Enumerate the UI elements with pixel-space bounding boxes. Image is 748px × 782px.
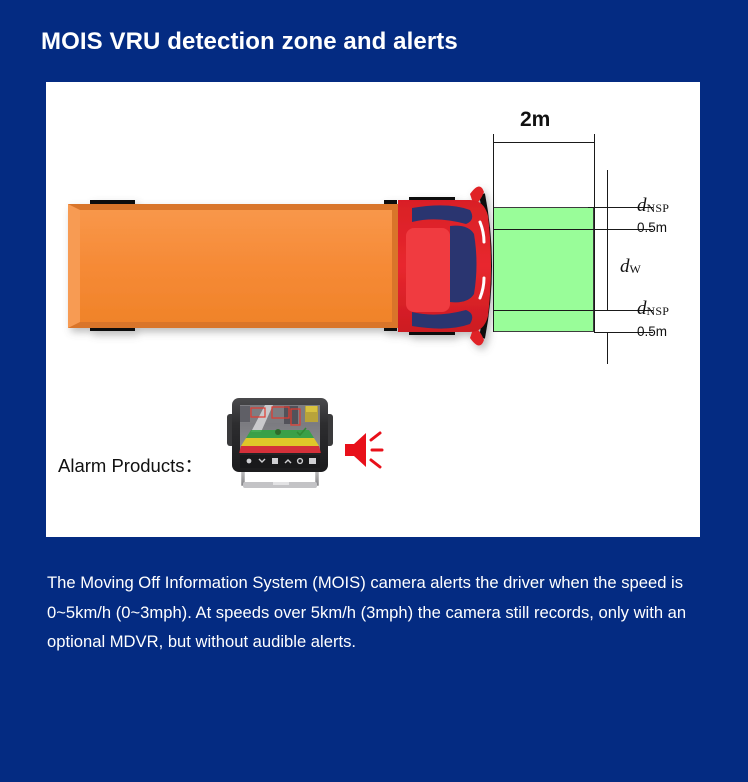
page-title: MOIS VRU detection zone and alerts <box>41 28 458 56</box>
overlay-zone-yellow <box>241 438 319 446</box>
dnsp-bottom-sub: NSP <box>647 304 670 318</box>
monitor-button-menu-icon <box>272 458 278 464</box>
dim-label-dw: dW <box>620 256 641 278</box>
diagram-panel: 2m dNSP 0.5m dW dNSP 0.5m Alarm Products… <box>46 82 700 537</box>
monitor-stand-highlight <box>273 482 289 485</box>
detection-zone-green <box>493 207 594 332</box>
dim-spine-bottom <box>607 332 608 364</box>
dim-spine-middle <box>607 229 608 310</box>
overlay-zone-red <box>239 446 321 453</box>
vehicle-monitor <box>221 392 339 492</box>
corridor-top-edge <box>493 142 595 143</box>
speaker-wave-top <box>371 433 380 440</box>
description-paragraph: The Moving Off Information System (MOIS)… <box>47 568 699 657</box>
dnsp-top-d: d <box>637 195 647 216</box>
dw-d: d <box>620 256 630 277</box>
trailer-body <box>80 210 392 322</box>
dim-label-dnsp-top: dNSP <box>637 195 669 217</box>
dnsp-bottom-d: d <box>637 298 647 319</box>
dim-2m-tick-right <box>594 134 595 150</box>
alarm-products-label: Alarm Products： <box>58 452 203 478</box>
dim-label-offset-top: 0.5m <box>637 220 667 235</box>
trailer-rear-bevel <box>68 204 80 328</box>
screen-badge <box>306 406 317 412</box>
overlay-marker-dot <box>275 429 281 435</box>
monitor-button-display-icon <box>309 458 316 464</box>
monitor-button-bar <box>240 455 320 468</box>
screen-wall-left <box>240 406 250 422</box>
truck-body-group <box>68 186 491 345</box>
zone-line-bottom-inner <box>493 310 653 311</box>
dim-label-2m: 2m <box>520 108 550 132</box>
dw-sub: W <box>630 262 642 276</box>
cab-roof-panel <box>406 228 450 312</box>
dim-label-dnsp-bottom: dNSP <box>637 298 669 320</box>
zone-line-top-inner <box>493 229 653 230</box>
corridor-left-edge <box>493 142 494 332</box>
dim-spine-top <box>607 170 608 229</box>
dim-2m-tick-left <box>493 134 494 150</box>
page-root: MOIS VRU detection zone and alerts <box>0 0 748 782</box>
dnsp-top-sub: NSP <box>647 201 670 215</box>
dim-label-offset-bottom: 0.5m <box>637 324 667 339</box>
speaker-wave-bottom <box>371 460 380 467</box>
speaker-icon <box>342 430 384 470</box>
monitor-button-power-icon <box>247 459 252 464</box>
corridor-right-edge <box>594 142 595 332</box>
cab-windshield <box>450 226 477 303</box>
speaker-body <box>345 433 366 467</box>
